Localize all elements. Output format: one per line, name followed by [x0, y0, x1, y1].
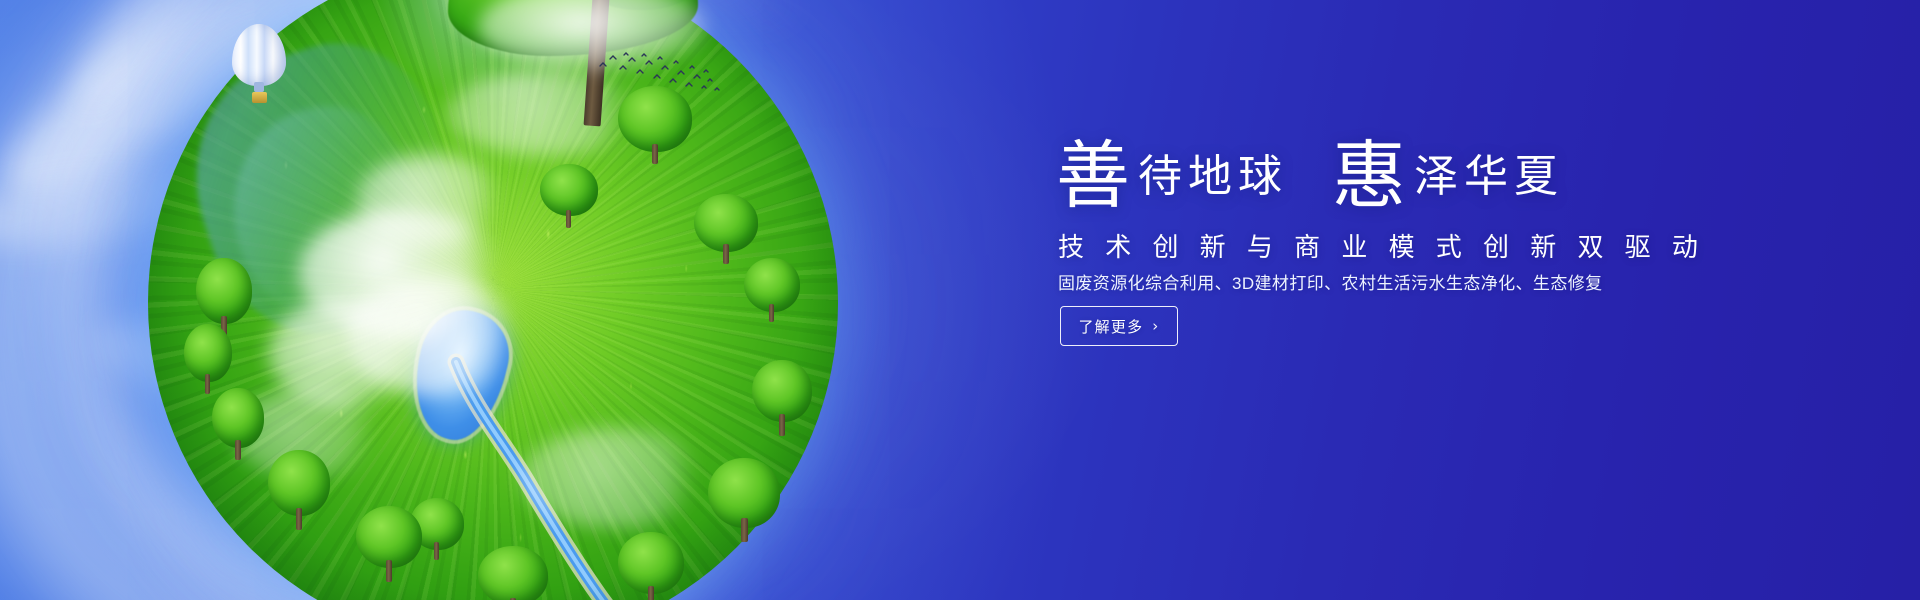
chevron-right-icon: ›	[1152, 319, 1159, 334]
headline-rest-chars-2: 泽华夏	[1406, 152, 1564, 201]
subtitle: 技 术 创 新 与 商 业 模 式 创 新 双 驱 动	[1058, 232, 1838, 263]
balloon-basket	[252, 92, 267, 103]
balloon-envelope	[232, 24, 286, 86]
headline-lead-char-2: 惠	[1332, 136, 1406, 218]
hero-content: 善待地球惠泽华夏 技 术 创 新 与 商 业 模 式 创 新 双 驱 动 固废资…	[1056, 0, 1836, 600]
headline-lead-char-1: 善	[1056, 136, 1130, 218]
learn-more-label: 了解更多	[1078, 316, 1143, 337]
hot-air-balloon-icon	[232, 24, 286, 106]
balloon-neck	[254, 82, 264, 92]
headline-rest-chars-1: 待地球	[1130, 152, 1288, 201]
headline: 善待地球惠泽华夏	[1056, 140, 1836, 232]
bird-flock-icon	[596, 50, 726, 94]
hero-banner: 善待地球惠泽华夏 技 术 创 新 与 商 业 模 式 创 新 双 驱 动 固废资…	[0, 0, 1920, 600]
learn-more-button[interactable]: 了解更多 ›	[1060, 306, 1178, 346]
description: 固废资源化综合利用、3D建材打印、农村生活污水生态净化、生态修复	[1058, 272, 1838, 296]
